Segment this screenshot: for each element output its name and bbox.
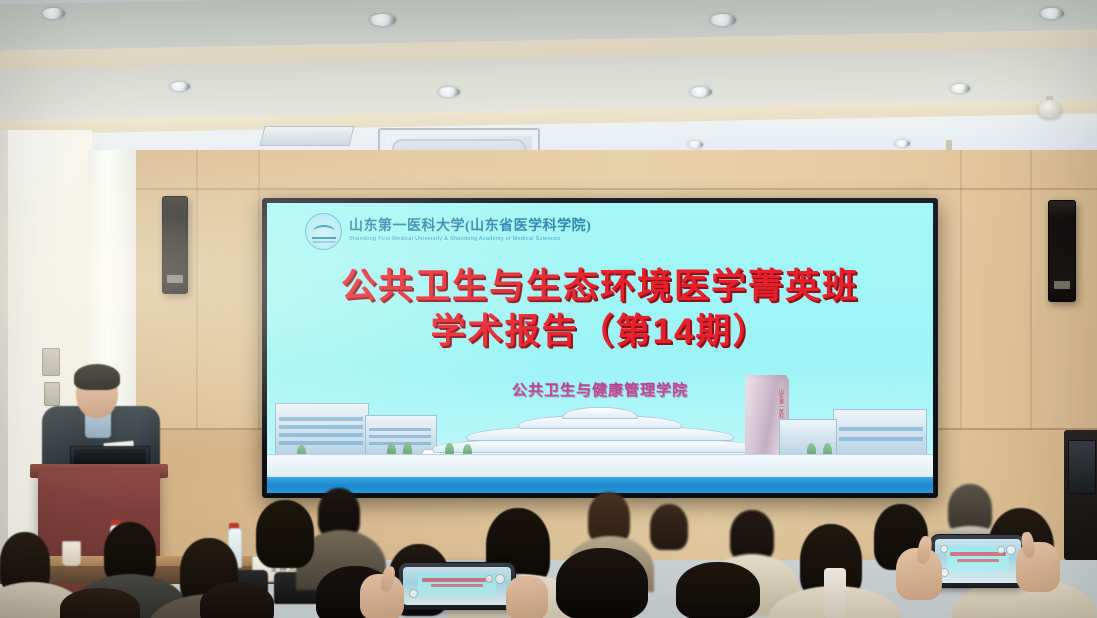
smartphone-recording-left[interactable] bbox=[398, 562, 516, 610]
hand-holding-phone bbox=[506, 576, 548, 618]
wall-speaker-left bbox=[162, 196, 188, 294]
downlight-icon bbox=[710, 14, 736, 26]
academic-building bbox=[833, 409, 927, 459]
smartphone-screen bbox=[403, 567, 511, 605]
smartphone-recording-right[interactable] bbox=[930, 534, 1026, 588]
audience-head bbox=[256, 500, 314, 568]
presenter-hair bbox=[74, 364, 120, 390]
university-logo: 山东第一医科大学(山东省医学科学院) Shandong First Medica… bbox=[305, 213, 591, 250]
university-name-cn: 山东第一医科大学(山东省医学科学院) bbox=[349, 220, 591, 234]
seated-audience bbox=[0, 470, 1097, 618]
led-presentation-screen[interactable]: 山东第一医科大学(山东省医学科学院) Shandong First Medica… bbox=[262, 198, 938, 498]
audience-head bbox=[200, 582, 274, 618]
downlight-icon bbox=[1040, 8, 1064, 19]
ceiling-vent-slat bbox=[260, 126, 355, 146]
audience-head bbox=[676, 562, 760, 618]
downlight-icon bbox=[370, 14, 396, 26]
slide-title-line-2: 学术报告（第14期） bbox=[267, 310, 933, 355]
downlight-icon bbox=[895, 140, 910, 147]
smoke-detector-icon bbox=[1038, 100, 1062, 118]
downlight-icon bbox=[688, 141, 703, 148]
downlight-icon bbox=[438, 87, 460, 97]
academic-building bbox=[275, 403, 369, 459]
downlight-icon bbox=[690, 87, 712, 97]
slide-title-line-1: 公共卫生与生态环境医学菁英班 bbox=[267, 265, 933, 310]
downlight-icon bbox=[170, 82, 190, 91]
slide-title: 公共卫生与生态环境医学菁英班 学术报告（第14期） bbox=[267, 265, 933, 355]
audience-head bbox=[556, 548, 648, 618]
university-name-en: Shandong First Medical University & Shan… bbox=[349, 237, 591, 242]
smartphone-screen bbox=[935, 539, 1021, 583]
audience-head bbox=[650, 504, 688, 550]
slide-content: 山东第一医科大学(山东省医学科学院) Shandong First Medica… bbox=[267, 203, 933, 493]
wall-control-panel[interactable] bbox=[44, 382, 60, 406]
thermos-bottle bbox=[824, 568, 846, 618]
wall-speaker-right bbox=[1048, 200, 1076, 302]
lecture-hall-photo: 山东第一医科大学(山东省医学科学院) Shandong First Medica… bbox=[0, 0, 1097, 618]
downlight-icon bbox=[42, 8, 65, 19]
wall-seam bbox=[130, 188, 1097, 190]
university-seal-emblem bbox=[305, 213, 342, 250]
downlight-icon bbox=[950, 84, 970, 93]
wall-control-panel[interactable] bbox=[42, 348, 60, 376]
